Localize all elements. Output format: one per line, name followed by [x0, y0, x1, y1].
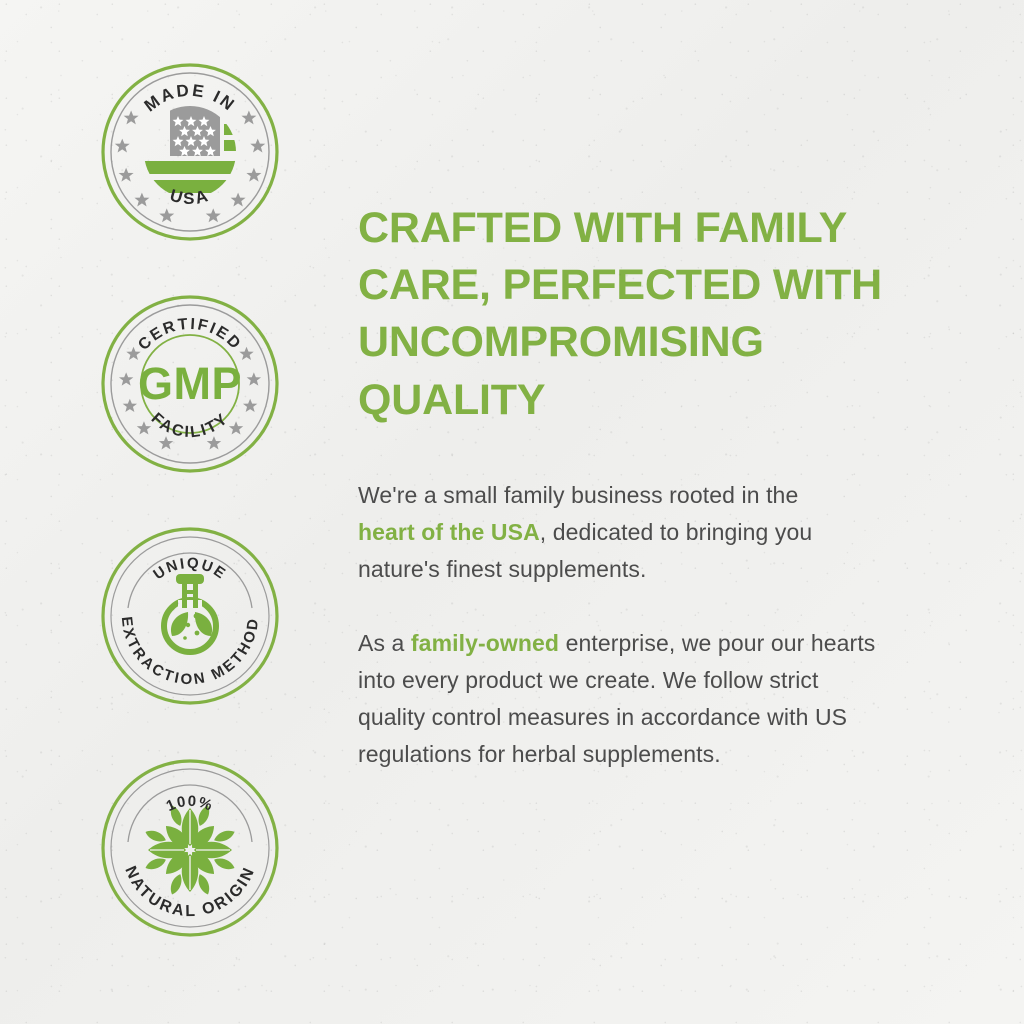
page-title: CRAFTED WITH FAMILY CARE, PERFECTED WITH…: [358, 200, 918, 429]
flask-leaf-icon: [164, 574, 216, 652]
para1-highlight: heart of the USA: [358, 519, 540, 545]
badge-gmp-certified: GMP CERTIFIED FACILITY: [100, 294, 280, 474]
leaf-rosette-icon: [144, 804, 236, 896]
us-flag-icon: [144, 106, 256, 193]
body-paragraph-1: We're a small family business rooted in …: [358, 477, 833, 589]
content-column: CRAFTED WITH FAMILY CARE, PERFECTED WITH…: [358, 200, 918, 774]
badge-bottom-label: USA: [168, 186, 212, 208]
para2-highlight: family-owned: [411, 630, 559, 656]
badge-bottom-label: FACILITY: [148, 410, 233, 441]
gmp-seal-icon: GMP: [138, 358, 242, 409]
body-paragraph-2: As a family-owned enterprise, we pour ou…: [358, 625, 888, 774]
badge-unique-extraction-method: UNIQUE EXTRACTION METHOD: [100, 526, 280, 706]
para2-text-before: As a: [358, 630, 411, 656]
badge-made-in-usa: MADE IN USA: [100, 62, 280, 242]
trust-badge-column: MADE IN USA: [100, 62, 286, 990]
badge-natural-origin: 100% NATURAL ORIGIN: [100, 758, 280, 938]
promo-panel: MADE IN USA: [0, 0, 1024, 1024]
para1-text-before: We're a small family business rooted in …: [358, 482, 798, 508]
